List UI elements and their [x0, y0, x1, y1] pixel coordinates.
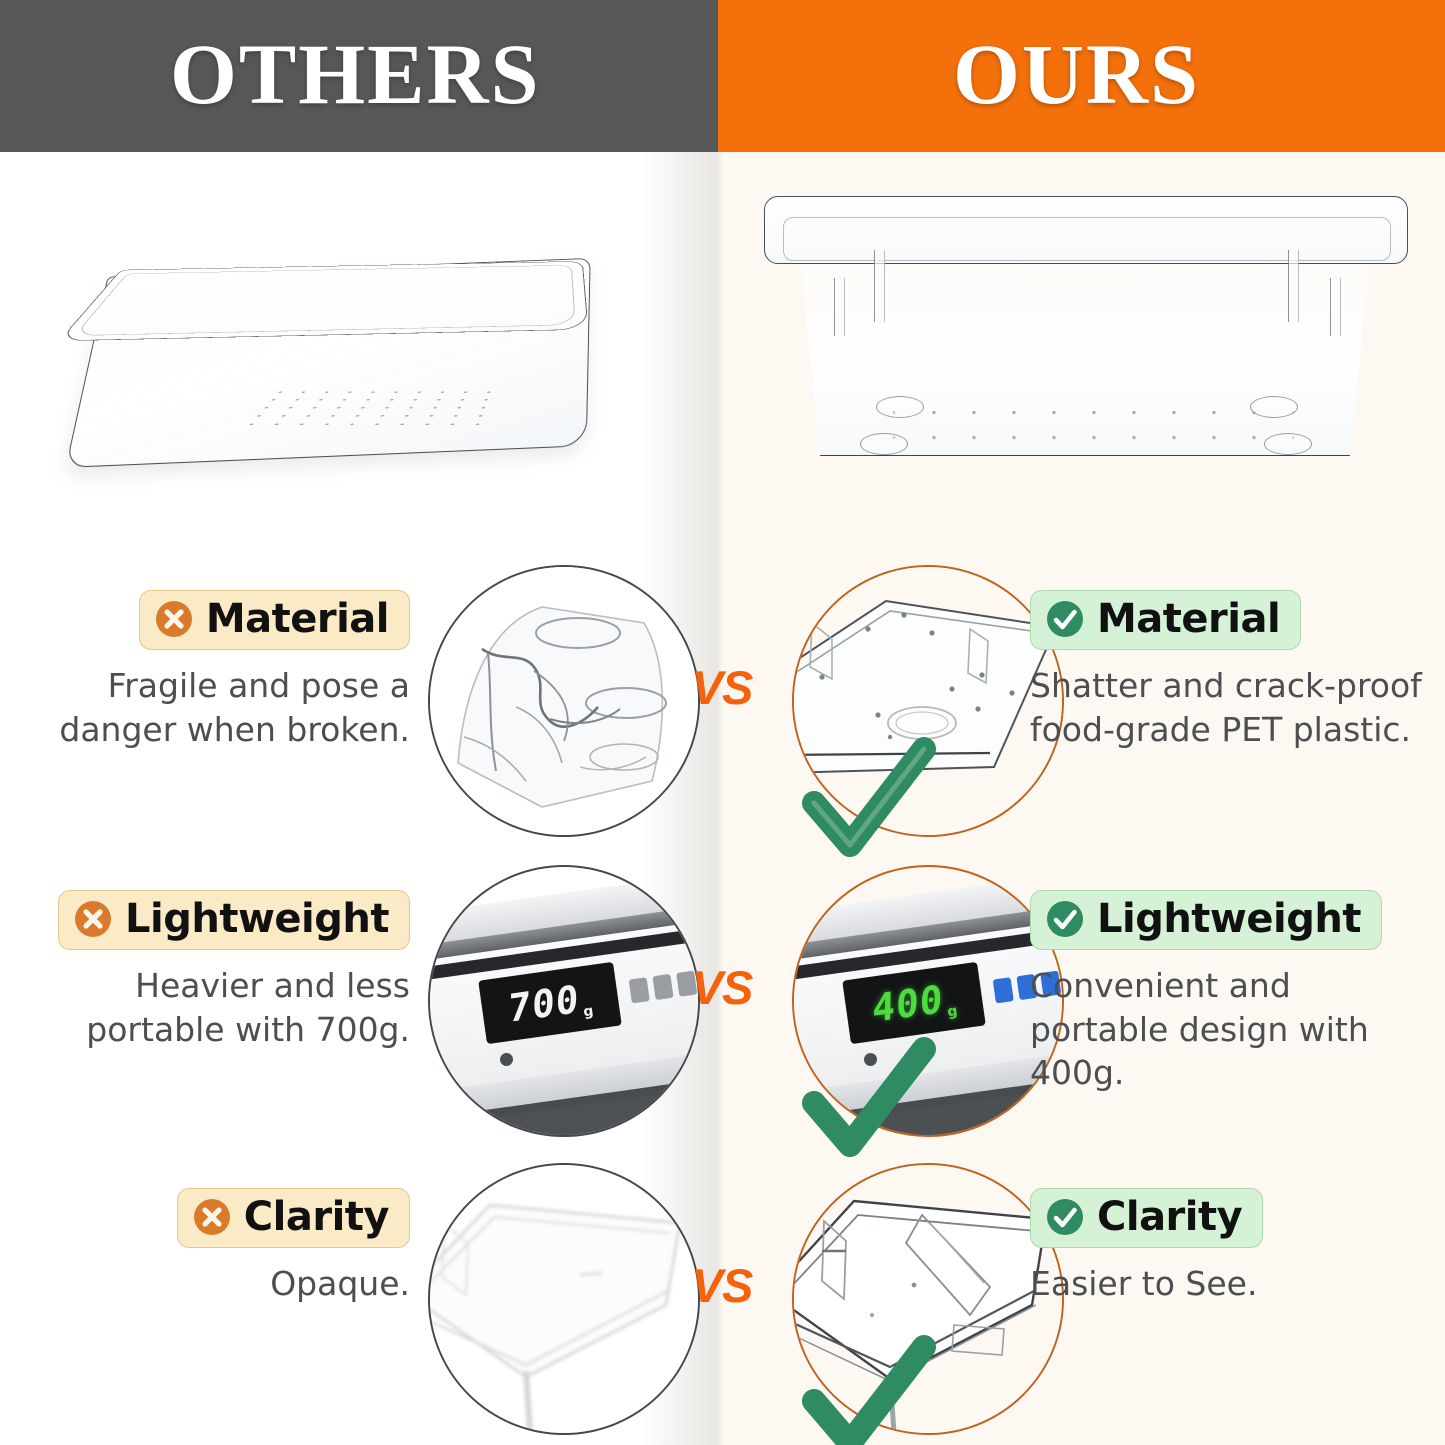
- others-lightweight-description: Heavier and less portable with 700g.: [10, 964, 410, 1051]
- ours-scale-photo: 400 g: [792, 865, 1064, 1137]
- scale-unit: g: [582, 1003, 594, 1020]
- bin-foot: [1264, 433, 1312, 455]
- ours-material-label: Material: [1097, 599, 1280, 639]
- cracked-plastic-illustration: [430, 567, 698, 835]
- ours-hero-image: [718, 160, 1445, 560]
- bin-post: [874, 250, 885, 322]
- bin-post: [1288, 250, 1299, 322]
- ours-clarity-label: Clarity: [1097, 1197, 1242, 1237]
- others-material-description: Fragile and pose a danger when broken.: [10, 664, 410, 751]
- check-circle-icon: [1045, 599, 1085, 639]
- check-circle-icon: [1045, 1197, 1085, 1237]
- ours-clarity-description: Easier to See.: [1030, 1262, 1430, 1306]
- comparison-row-clarity: Clarity Opaque. VS: [0, 1158, 1445, 1445]
- ours-material-photo: [792, 565, 1064, 837]
- vs-label-lightweight: VS: [686, 960, 758, 1015]
- cross-circle-icon: [154, 599, 194, 639]
- ours-material-text: Material Shatter and crack-proof food-gr…: [1030, 590, 1430, 751]
- ours-material-badge: Material: [1030, 590, 1301, 650]
- cross-circle-icon: [192, 1197, 232, 1237]
- scale-unit: g: [946, 1003, 958, 1020]
- ours-material-description: Shatter and crack-proof food-grade PET p…: [1030, 664, 1430, 751]
- ours-lightweight-label: Lightweight: [1097, 899, 1361, 939]
- transparent-rim-illustration: [794, 1165, 1062, 1433]
- scale-button[interactable]: [652, 974, 673, 1000]
- bin-post: [834, 278, 845, 336]
- bin-foot: [1250, 396, 1298, 418]
- others-clarity-photo: [428, 1163, 700, 1435]
- others-lightweight-badge: Lightweight: [58, 890, 410, 950]
- others-clarity-description: Opaque.: [10, 1262, 410, 1306]
- others-clarity-label: Clarity: [244, 1197, 389, 1237]
- scale-reading: 400: [872, 980, 944, 1028]
- vs-label-material: VS: [686, 660, 758, 715]
- bin-drainage-holes: [874, 400, 1294, 450]
- bin-post: [1330, 278, 1341, 336]
- shallow-tray-illustration: [88, 215, 608, 480]
- ours-lightweight-description: Convenient and portable design with 400g…: [1030, 964, 1430, 1095]
- comparison-infographic: OTHERS OURS: [0, 0, 1445, 1445]
- scale-reading: 700: [508, 980, 580, 1028]
- ours-clarity-badge: Clarity: [1030, 1188, 1263, 1248]
- opaque-rim-illustration: [430, 1165, 698, 1433]
- others-material-badge: Material: [139, 590, 410, 650]
- others-lightweight-label: Lightweight: [125, 899, 389, 939]
- ours-clarity-text: Clarity Easier to See.: [1030, 1188, 1430, 1306]
- others-scale-photo: 700 g: [428, 865, 700, 1137]
- ours-clarity-photo: [792, 1163, 1064, 1435]
- scale-button[interactable]: [629, 977, 650, 1003]
- cross-circle-icon: [73, 899, 113, 939]
- check-circle-icon: [1045, 899, 1085, 939]
- ours-lightweight-badge: Lightweight: [1030, 890, 1382, 950]
- tray-drainage-holes: [238, 389, 511, 426]
- others-clarity-badge: Clarity: [177, 1188, 410, 1248]
- bin-rim: [764, 196, 1408, 264]
- bin-foot: [860, 433, 908, 455]
- digital-scale-400g: 400 g: [794, 867, 1062, 1135]
- comparison-row-material: Material Fragile and pose a danger when …: [0, 560, 1445, 850]
- comparison-row-lightweight: Lightweight Heavier and less portable wi…: [0, 860, 1445, 1150]
- others-clarity-text: Clarity Opaque.: [10, 1188, 410, 1306]
- ours-header-bar: OURS: [718, 0, 1445, 152]
- others-header-bar: OTHERS: [0, 0, 718, 152]
- others-lightweight-text: Lightweight Heavier and less portable wi…: [10, 890, 410, 1051]
- ours-lightweight-text: Lightweight Convenient and portable desi…: [1030, 890, 1430, 1095]
- ours-title: OURS: [953, 24, 1200, 124]
- others-material-label: Material: [206, 599, 389, 639]
- tray-inner-rim: [74, 265, 576, 336]
- others-material-text: Material Fragile and pose a danger when …: [10, 590, 410, 751]
- digital-scale-700g: 700 g: [430, 867, 698, 1135]
- bin-foot: [876, 396, 924, 418]
- deep-bin-illustration: [764, 188, 1406, 468]
- scale-button[interactable]: [993, 977, 1014, 1003]
- others-title: OTHERS: [170, 24, 540, 124]
- others-material-photo: [428, 565, 700, 837]
- intact-bin-base-illustration: [794, 567, 1062, 835]
- others-hero-image: [0, 160, 718, 560]
- vs-label-clarity: VS: [686, 1258, 758, 1313]
